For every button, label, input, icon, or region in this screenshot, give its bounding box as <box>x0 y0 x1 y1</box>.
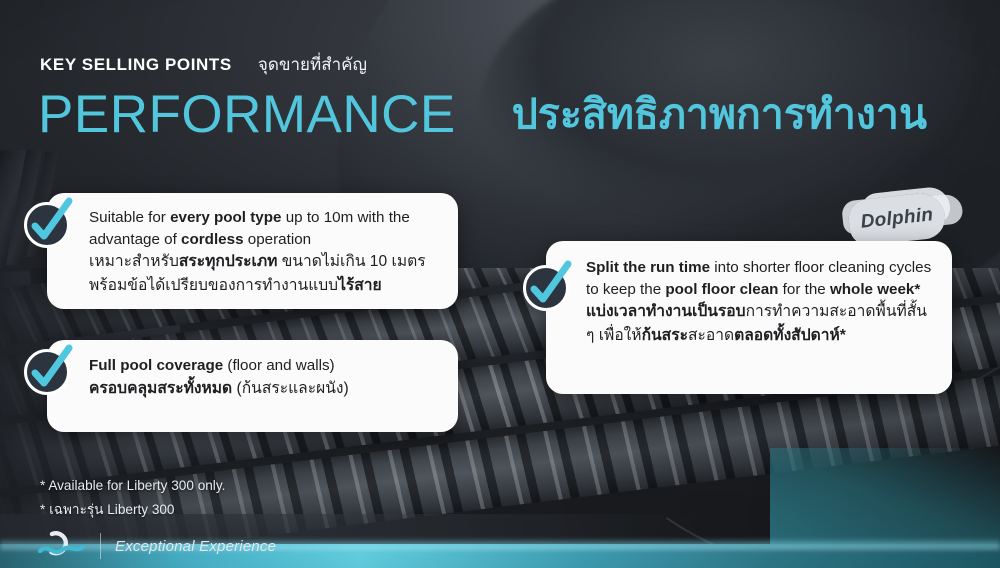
eyebrow-label-th: จุดขายที่สำคัญ <box>258 51 367 78</box>
callout-card-full-coverage: Full pool coverage (floor and walls) ครอ… <box>47 340 458 432</box>
callout-text-th: แบ่งเวลาทำงานเป็นรอบการทำความสะอาดพื้นที… <box>586 300 934 347</box>
page-title: PERFORMANCE ประสิทธิภาพการทำงาน <box>38 88 978 141</box>
callout-text-en: Split the run time into shorter floor cl… <box>586 257 934 300</box>
page-title-th: ประสิทธิภาพการทำงาน <box>512 94 927 135</box>
dolphin-logo: Dolphin ™ <box>849 196 945 242</box>
footer-tagline: Exceptional Experience <box>115 538 276 555</box>
page-title-en: PERFORMANCE <box>38 88 456 141</box>
callout-text-th: เหมาะสำหรับสระทุกประเภท ขนาดไม่เกิน 10 เ… <box>89 250 438 297</box>
maytronics-wave-logo-icon <box>38 531 86 561</box>
check-icon <box>523 265 569 311</box>
footnotes: * Available for Liberty 300 only. * เฉพา… <box>40 474 225 522</box>
slide-canvas: Y™ Dolphin ™ KEY SELLING POINTS จุดขายที… <box>0 0 1000 568</box>
eyebrow: KEY SELLING POINTS จุดขายที่สำคัญ <box>40 51 367 78</box>
callout-text-th: ครอบคลุมสระทั้งหมด (ก้นสระและผนัง) <box>89 377 438 401</box>
footnote-th: * เฉพาะรุ่น Liberty 300 <box>40 498 225 522</box>
eyebrow-label-en: KEY SELLING POINTS <box>40 55 232 75</box>
footer-brand: Exceptional Experience <box>38 531 276 561</box>
callout-card-split-run-time: Split the run time into shorter floor cl… <box>546 241 952 394</box>
footnote-en: * Available for Liberty 300 only. <box>40 474 225 498</box>
footer-divider <box>100 533 101 559</box>
dolphin-tm: ™ <box>941 200 950 210</box>
callout-card-pool-type: Suitable for every pool type up to 10m w… <box>47 193 458 309</box>
callout-text-en: Suitable for every pool type up to 10m w… <box>89 207 438 250</box>
check-icon <box>24 202 70 248</box>
check-icon <box>24 349 70 395</box>
dolphin-logo-text: Dolphin <box>847 191 947 247</box>
callout-text-en: Full pool coverage (floor and walls) <box>89 355 438 377</box>
